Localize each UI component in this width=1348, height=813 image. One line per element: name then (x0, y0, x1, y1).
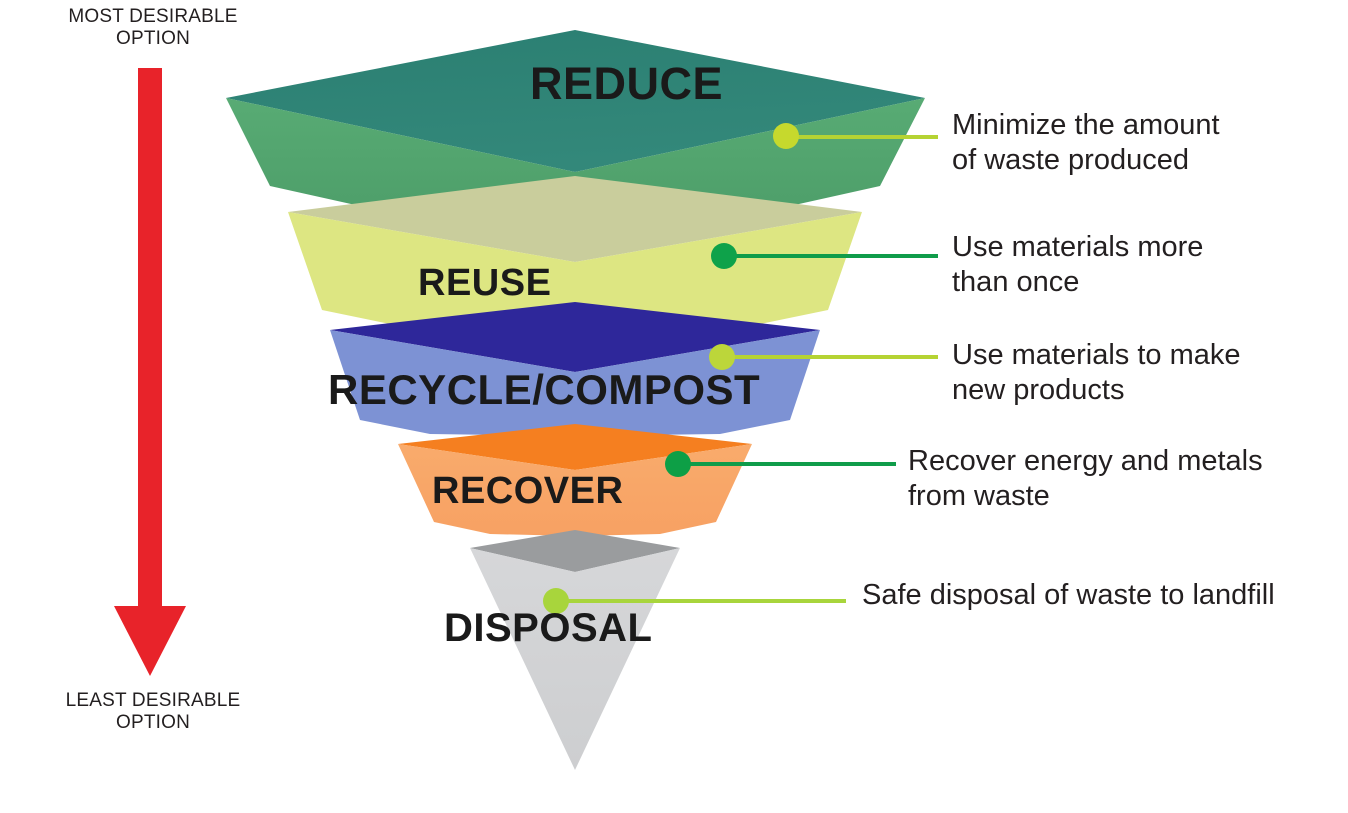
tier-label-reduce: REDUCE (530, 58, 723, 110)
most-desirable-label: MOST DESIRABLE OPTION (18, 6, 288, 50)
annotation-disposal: Safe disposal of waste to landfill (862, 578, 1275, 613)
diagram-canvas: MOST DESIRABLE OPTION LEAST DESIRABLE OP… (0, 0, 1348, 813)
annotation-reuse: Use materials more than once (952, 230, 1203, 301)
least-desirable-label: LEAST DESIRABLE OPTION (18, 690, 288, 734)
annotation-reduce: Minimize the amount of waste produced (952, 108, 1220, 179)
tier-label-reuse: REUSE (418, 262, 551, 305)
annotation-recover: Recover energy and metals from waste (908, 444, 1263, 515)
tier-label-recycle-compost: RECYCLE/COMPOST (328, 366, 760, 414)
desirability-arrow (114, 68, 186, 676)
leader-dot-reduce (773, 123, 799, 149)
leader-dot-recover (665, 451, 691, 477)
tier-label-disposal: DISPOSAL (444, 606, 652, 651)
annotation-recycle-compost: Use materials to make new products (952, 338, 1241, 409)
tier-label-recover: RECOVER (432, 470, 623, 513)
leader-dot-reuse (711, 243, 737, 269)
